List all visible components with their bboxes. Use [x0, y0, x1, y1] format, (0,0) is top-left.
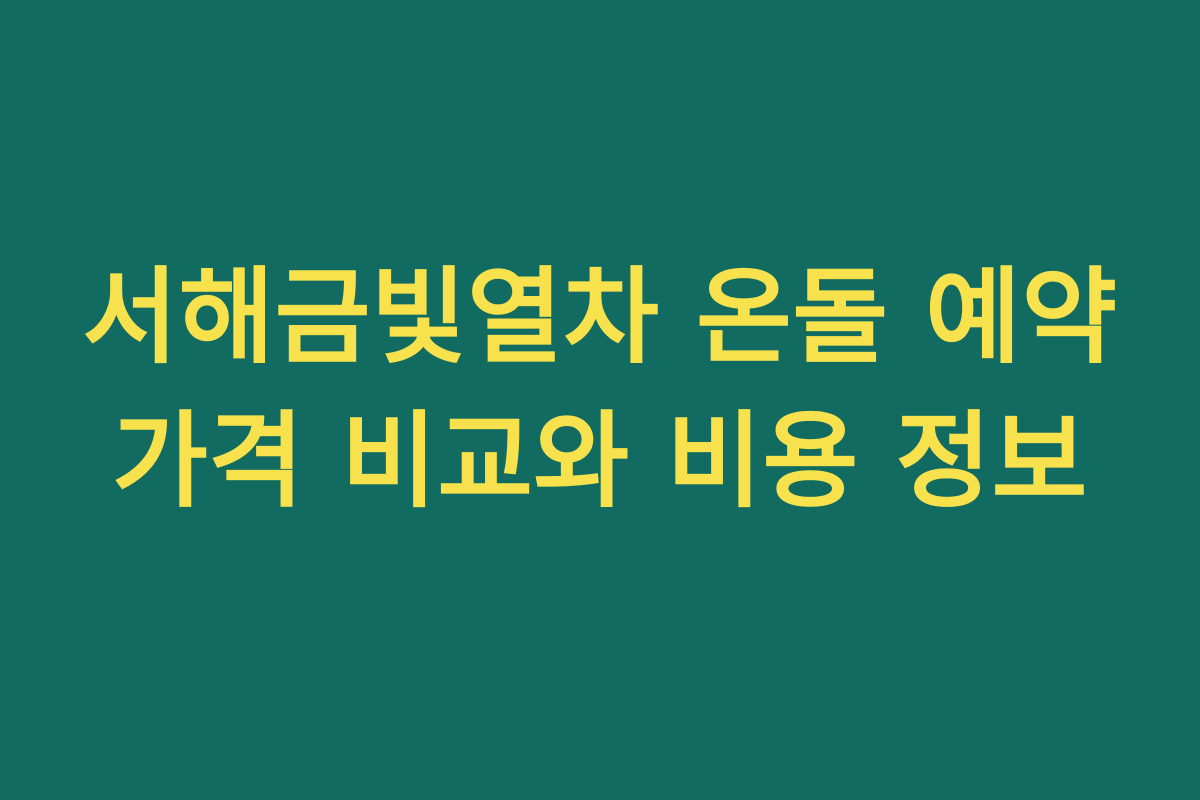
banner-canvas: 서해금빛열차 온돌 예약 가격 비교와 비용 정보: [0, 0, 1200, 800]
headline-line-1: 서해금빛열차 온돌 예약: [40, 246, 1160, 390]
headline-block: 서해금빛열차 온돌 예약 가격 비교와 비용 정보: [0, 246, 1200, 533]
headline-line-2: 가격 비교와 비용 정보: [40, 390, 1160, 534]
